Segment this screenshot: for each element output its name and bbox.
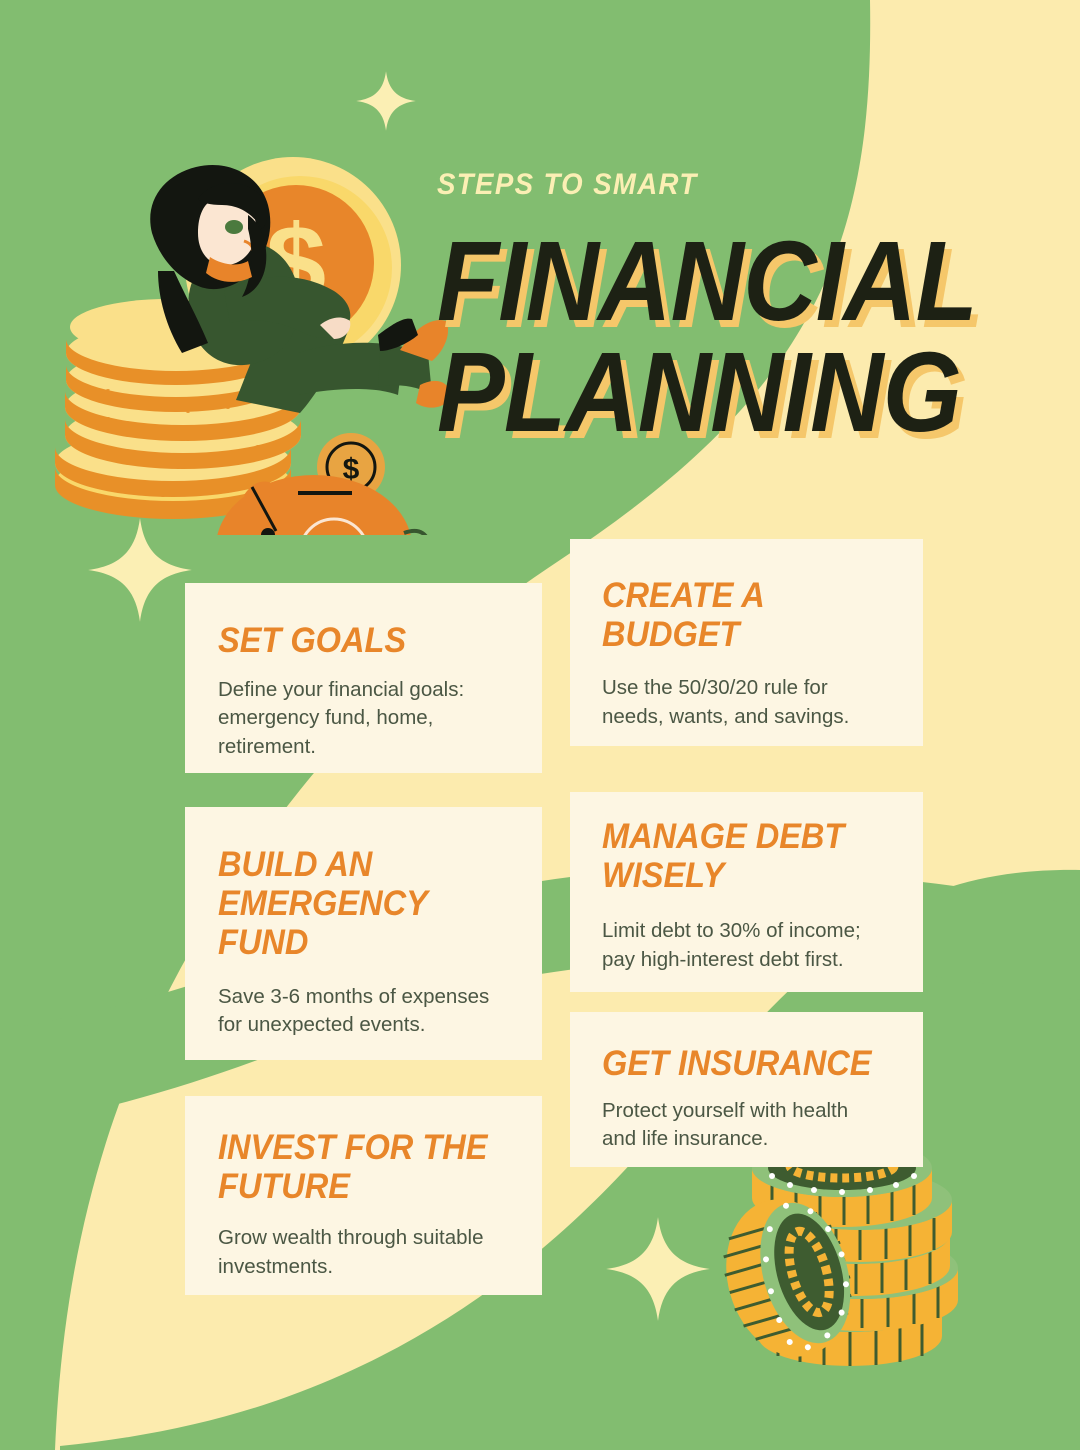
svg-text:$: $ <box>323 532 345 535</box>
card-body: Grow wealth through suitable investments… <box>218 1224 542 1281</box>
coin-stack-illustration <box>700 1140 1060 1390</box>
step-card-invest-for-the-future[interactable]: INVEST FOR THE FUTURE Grow wealth throug… <box>185 1096 542 1295</box>
card-heading: BUILD AN EMERGENCY FUND <box>218 845 519 963</box>
card-heading: GET INSURANCE <box>602 1044 901 1083</box>
step-card-set-goals[interactable]: SET GOALS Define your financial goals: e… <box>185 583 542 773</box>
card-heading: SET GOALS <box>218 621 519 660</box>
card-heading: CREATE A BUDGET <box>602 576 901 654</box>
step-card-create-a-budget[interactable]: CREATE A BUDGET Use the 50/30/20 rule fo… <box>570 539 923 746</box>
infographic-poster: $ <box>0 0 1080 1450</box>
step-card-manage-debt-wisely[interactable]: MANAGE DEBT WISELY Limit debt to 30% of … <box>570 792 923 992</box>
title-line-1: FINANCIAL <box>437 218 977 344</box>
card-heading: INVEST FOR THE FUTURE <box>218 1128 519 1206</box>
title-line-2: PLANNING <box>437 337 977 448</box>
step-card-build-an-emergency-fund[interactable]: BUILD AN EMERGENCY FUND Save 3-6 months … <box>185 807 542 1060</box>
step-card-get-insurance[interactable]: GET INSURANCE Protect yourself with heal… <box>570 1012 923 1167</box>
sparkle-icon <box>604 1215 712 1323</box>
card-body: Protect yourself with health and life in… <box>602 1097 923 1154</box>
page-title: FINANCIAL PLANNING <box>437 226 977 447</box>
card-heading: MANAGE DEBT WISELY <box>602 817 901 895</box>
eyebrow-label: STEPS TO SMART <box>437 168 698 202</box>
card-body: Limit debt to 30% of income; pay high-in… <box>602 917 923 974</box>
card-body: Save 3-6 months of expenses for unexpect… <box>218 983 542 1040</box>
woman-on-coins-illustration: $ <box>48 95 448 535</box>
card-body: Define your financial goals: emergency f… <box>218 676 542 761</box>
card-body: Use the 50/30/20 rule for needs, wants, … <box>602 674 923 731</box>
